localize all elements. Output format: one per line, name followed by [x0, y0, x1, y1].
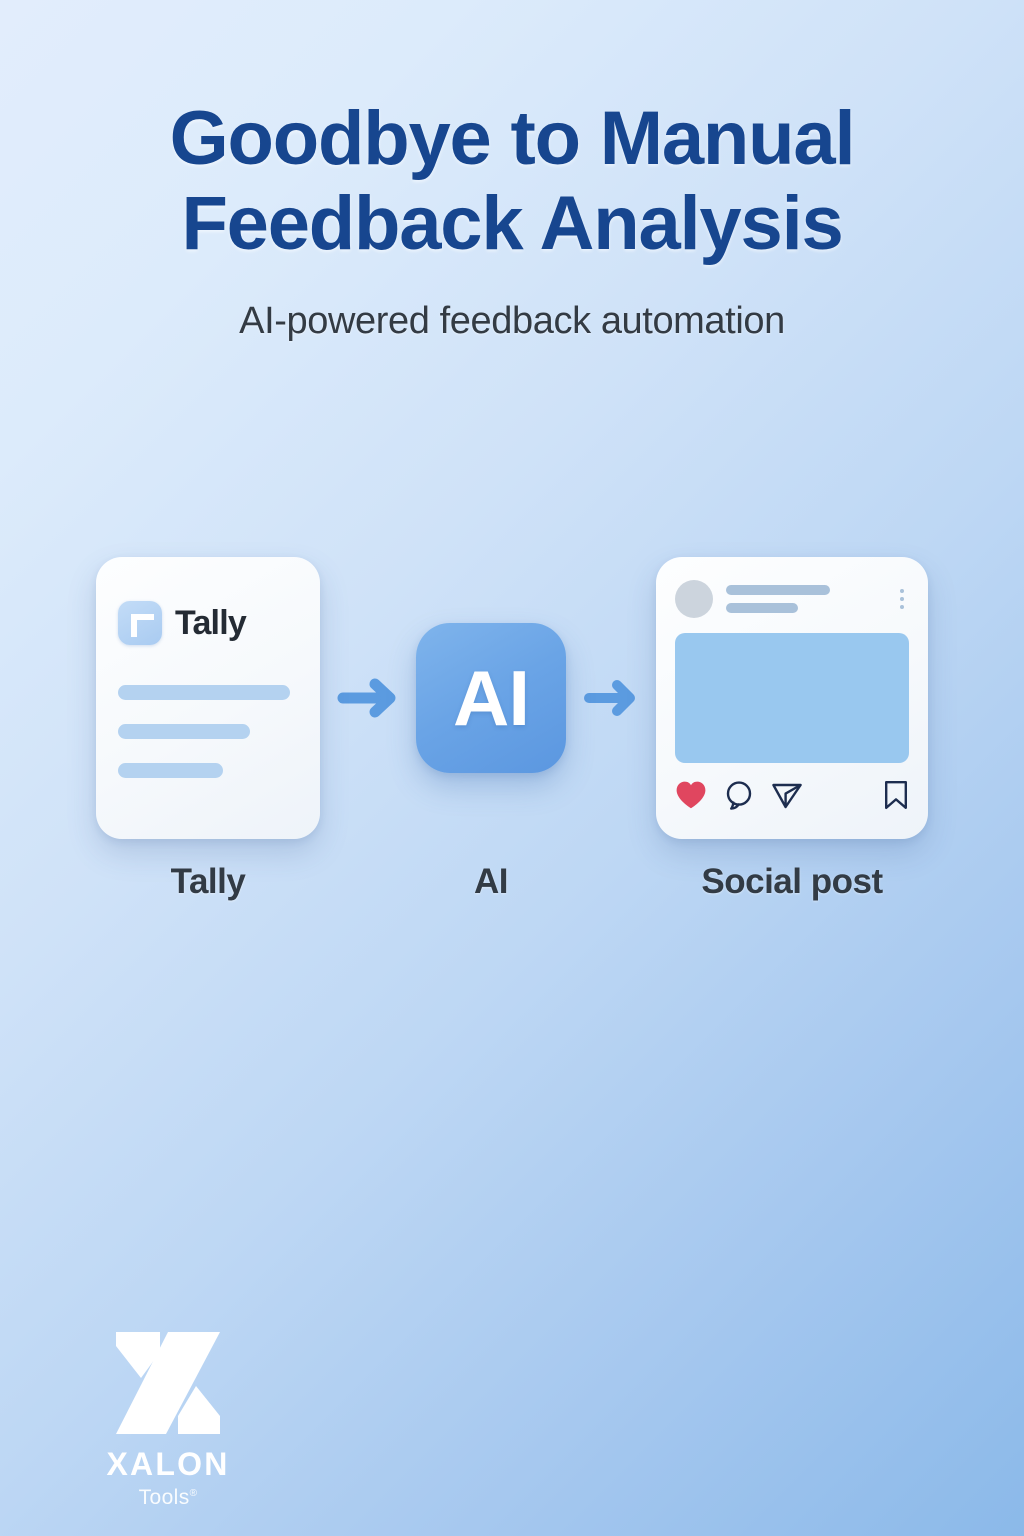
title-line-2: Feedback Analysis	[181, 181, 842, 266]
social-post-actions	[675, 780, 909, 810]
brand-logo: XALON Tools®	[68, 1324, 268, 1508]
flow-label-ai: AI	[416, 862, 566, 902]
page-subtitle: AI-powered feedback automation	[0, 300, 1024, 343]
comment-icon[interactable]	[724, 780, 754, 810]
flow-label-social-post: Social post	[656, 862, 928, 902]
avatar	[675, 580, 713, 618]
workflow-diagram: Tally AI	[0, 548, 1024, 848]
tally-card[interactable]: Tally	[96, 557, 320, 839]
poster-canvas: Goodbye to Manual Feedback Analysis AI-p…	[0, 0, 1024, 1536]
page-title: Goodbye to Manual Feedback Analysis	[0, 96, 1024, 266]
tally-logo-icon	[118, 601, 162, 645]
placeholder-line	[118, 685, 290, 700]
arrow-right-icon-2	[566, 678, 656, 718]
heart-icon[interactable]	[675, 780, 707, 810]
tally-wordmark: Tally	[175, 606, 246, 640]
header: Goodbye to Manual Feedback Analysis AI-p…	[0, 96, 1024, 343]
brand-sub: Tools®	[68, 1487, 268, 1508]
social-post-meta	[726, 585, 882, 613]
three-dots-vertical-icon[interactable]	[895, 589, 909, 609]
flow-step-social-post	[656, 557, 928, 839]
brand-name: XALON	[68, 1448, 268, 1480]
xalon-x-logo-icon	[108, 1324, 228, 1442]
title-line-1: Goodbye to Manual	[170, 96, 855, 181]
ai-tile[interactable]: AI	[416, 623, 566, 773]
flow-step-ai: AI	[416, 623, 566, 773]
bookmark-icon[interactable]	[883, 780, 909, 810]
registered-trademark-icon: ®	[190, 1488, 198, 1499]
flow-step-tally: Tally	[96, 557, 320, 839]
placeholder-line	[118, 724, 250, 739]
workflow-labels: Tally AI Social post	[0, 862, 1024, 922]
arrow-right-icon-1	[320, 676, 416, 720]
tally-card-header: Tally	[118, 601, 298, 645]
social-post-card[interactable]	[656, 557, 928, 839]
flow-label-tally: Tally	[96, 862, 320, 902]
social-post-image-placeholder	[675, 633, 909, 763]
placeholder-bar	[726, 603, 798, 613]
tally-placeholder-lines	[118, 685, 298, 778]
placeholder-bar	[726, 585, 830, 595]
social-post-header	[675, 577, 909, 621]
placeholder-line	[118, 763, 223, 778]
share-icon[interactable]	[771, 780, 803, 810]
ai-tile-label: AI	[453, 659, 529, 737]
